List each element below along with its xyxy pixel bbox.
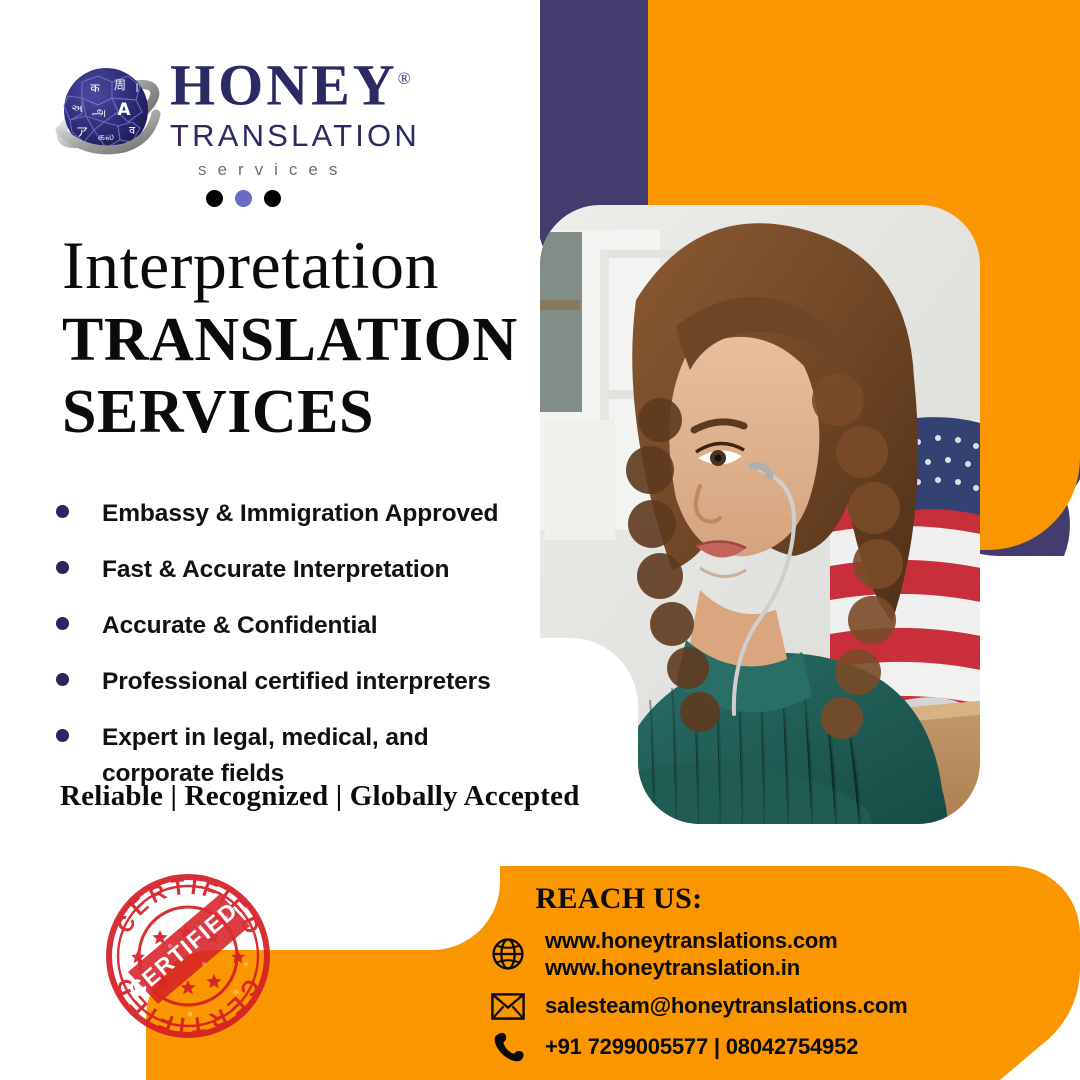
list-item: Fast & Accurate Interpretation <box>56 552 556 588</box>
contact-row-phone[interactable]: +91 7299005577 | 08042754952 <box>425 1031 1025 1063</box>
phone-values[interactable]: +91 7299005577 | 08042754952 <box>545 1033 858 1061</box>
orange-decor-shape <box>648 0 1080 550</box>
contact-row-website[interactable]: www.honeytranslations.com www.honeytrans… <box>425 927 1025 981</box>
bullet-dot-icon <box>56 505 69 518</box>
svg-text:அ: அ <box>92 105 106 120</box>
logo-primary: HONEY® <box>170 48 411 116</box>
logo-wordmark: HONEY® TRANSLATION services <box>170 48 470 182</box>
headline-bold-1: TRANSLATION <box>62 306 562 374</box>
website-1[interactable]: www.honeytranslations.com <box>545 927 837 954</box>
svg-text:व: व <box>129 124 136 137</box>
contact-block: REACH US: www.honeytranslations.com www.… <box>425 868 1025 1063</box>
bullet-dot-icon <box>56 617 69 630</box>
contact-title: REACH US: <box>429 868 809 916</box>
svg-text:અ: અ <box>71 102 83 115</box>
dot-indicator-3 <box>264 190 281 207</box>
website-2[interactable]: www.honeytranslation.in <box>545 954 837 981</box>
dot-indicator-2 <box>235 190 252 207</box>
registered-trademark-icon: ® <box>398 69 411 88</box>
bullet-dot-icon <box>56 673 69 686</box>
logo-primary-text: HONEY <box>170 52 398 117</box>
headline-script: Interpretation <box>62 228 562 302</box>
feature-list: Embassy & Immigration Approved Fast & Ac… <box>56 496 556 812</box>
logo-secondary: TRANSLATION <box>170 118 470 154</box>
list-item-label: Professional certified interpreters <box>102 664 491 700</box>
svg-text:क: क <box>90 81 100 95</box>
list-item-label: Fast & Accurate Interpretation <box>102 552 449 588</box>
envelope-icon <box>487 993 529 1020</box>
list-item: Embassy & Immigration Approved <box>56 496 556 532</box>
svg-text:A: A <box>117 100 131 120</box>
list-item-label: Accurate & Confidential <box>102 608 377 644</box>
dot-indicator-1 <box>206 190 223 207</box>
phone-icon <box>487 1031 529 1063</box>
logo-tertiary: services <box>198 158 470 182</box>
multilingual-globe-icon: क 周 ا અ அ A ア கல व <box>52 56 164 168</box>
email-value[interactable]: salesteam@honeytranslations.com <box>545 992 908 1020</box>
brand-logo[interactable]: क 周 ا અ அ A ア கல व HONEY® TRANSLATION se… <box>52 48 472 188</box>
svg-text:周: 周 <box>114 78 126 92</box>
globe-icon <box>487 937 529 971</box>
dot-indicators <box>206 190 281 207</box>
bullet-dot-icon <box>56 729 69 742</box>
list-item: Professional certified interpreters <box>56 664 556 700</box>
svg-text:ا: ا <box>135 82 138 95</box>
list-item: Accurate & Confidential <box>56 608 556 644</box>
headline-bold-2: SERVICES <box>62 378 562 446</box>
bullet-dot-icon <box>56 561 69 574</box>
svg-text:கல: கல <box>98 130 114 143</box>
tagline: Reliable | Recognized | Globally Accepte… <box>60 780 580 813</box>
certified-stamp-badge: CERTIFIED CERTIFIED CERTIFIED <box>100 868 276 1044</box>
list-item-label: Embassy & Immigration Approved <box>102 496 498 532</box>
page-title: Interpretation TRANSLATION SERVICES <box>62 228 562 446</box>
hero-photo <box>530 195 990 835</box>
svg-text:ア: ア <box>76 125 88 139</box>
purple-decor-shape <box>540 0 1080 556</box>
poster-canvas: क 周 ا અ அ A ア கல व HONEY® TRANSLATION se… <box>0 0 1080 1080</box>
website-values: www.honeytranslations.com www.honeytrans… <box>545 927 837 981</box>
contact-row-email[interactable]: salesteam@honeytranslations.com <box>425 992 1025 1020</box>
